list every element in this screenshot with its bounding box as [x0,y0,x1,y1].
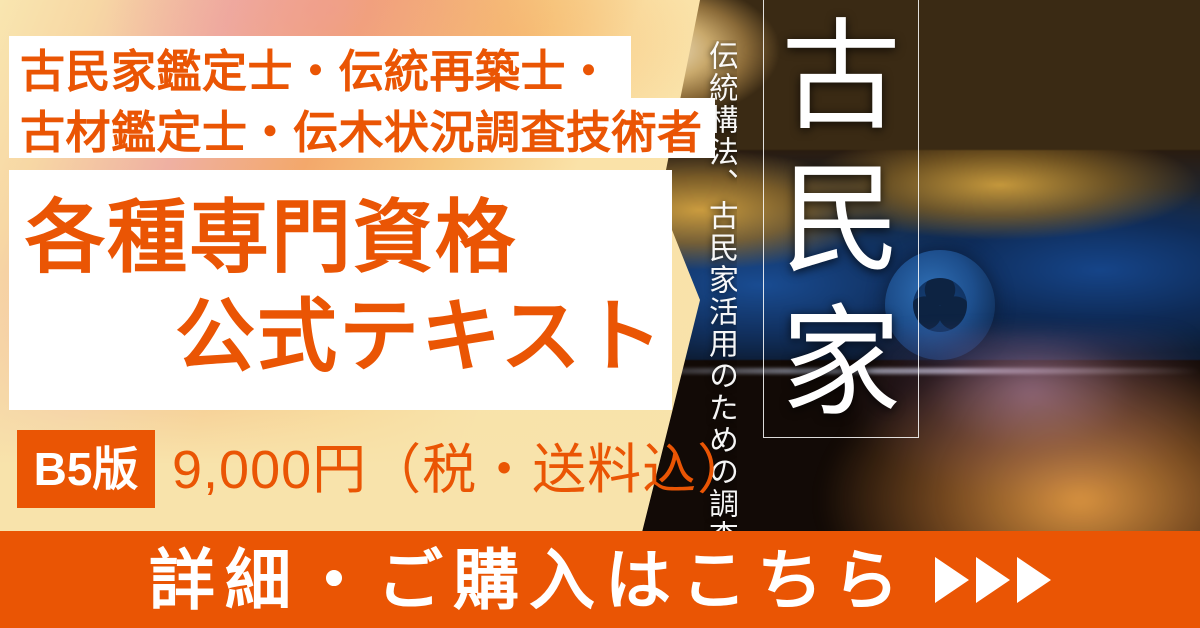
qualification-heading-line-2: 古材鑑定士・伝木状況調査技術者 [20,110,703,155]
price-label: 9,000円（税・送料込） [172,435,752,505]
cta-bar[interactable]: 詳細・ご購入はこちら [0,531,1200,628]
triangle-right-icon [935,557,969,603]
book-cover-title-char-2: 民 [781,161,901,281]
promo-banner: 伝統構法、古民家活用のための調査と再生の 古 民 家 古民家鑑定士・伝統再築士・… [0,0,1200,628]
book-cover-title: 古 民 家 [760,6,922,436]
format-badge-label: B5版 [34,446,139,492]
main-title-line-1: 各種専門資格 [25,198,517,278]
triangle-right-icon [1017,557,1051,603]
cta-label: 詳細・ご購入はこちら [149,547,909,613]
cta-arrow-group [935,557,1051,603]
book-cover-title-char-3: 家 [781,304,901,424]
book-cover-title-char-1: 古 [781,18,901,138]
main-title-line-2: 公式テキスト [175,297,665,377]
qualification-heading-line-1: 古民家鑑定士・伝統再築士・ [20,49,612,94]
triangle-right-icon [976,557,1010,603]
format-badge: B5版 [17,430,155,508]
